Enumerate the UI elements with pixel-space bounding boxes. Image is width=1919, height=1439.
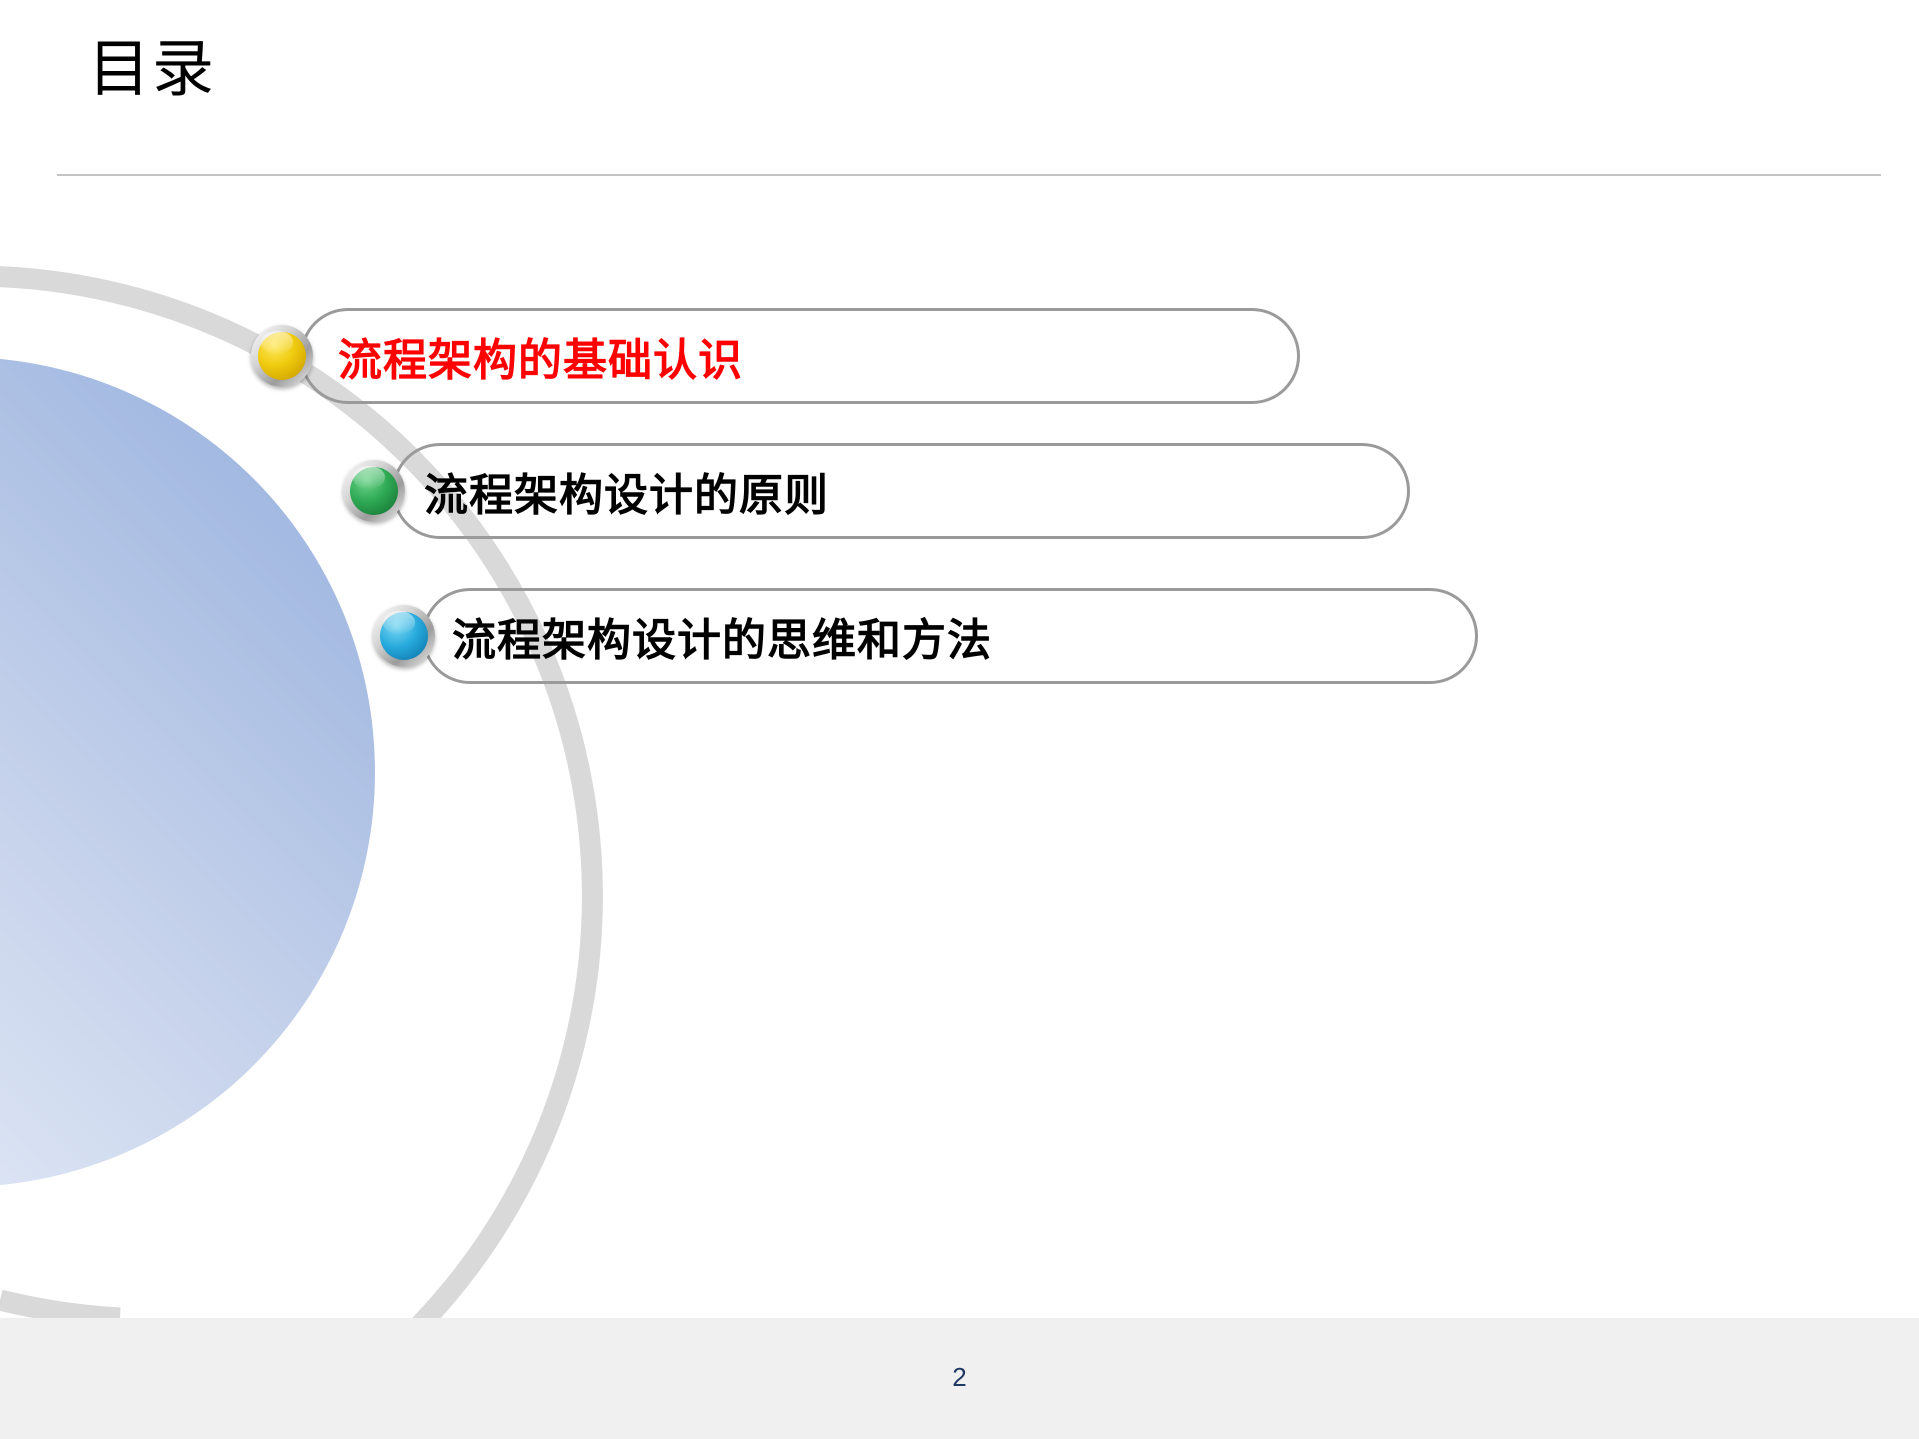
toc-item-2-label: 流程架构设计的原则: [424, 459, 829, 523]
bullet-core: [258, 332, 306, 380]
slide-canvas: 目录 流程架构的基础认识 流程架构设计的原则 流程架构设计的思维和方法 2: [0, 0, 1919, 1439]
background-decoration: [0, 0, 1919, 1439]
page-title: 目录: [88, 34, 216, 105]
toc-item-3-label: 流程架构设计的思维和方法: [452, 604, 992, 668]
decorative-gray-arc-tail: [0, 1300, 120, 1318]
bullet-core: [380, 612, 428, 660]
page-number: 2: [0, 1362, 1919, 1393]
toc-item-2[interactable]: 流程架构设计的原则: [0, 443, 1919, 539]
green-sphere-bullet: [343, 460, 405, 522]
toc-item-1[interactable]: 流程架构的基础认识: [0, 308, 1919, 404]
gold-sphere-bullet: [251, 325, 313, 387]
bullet-core: [350, 467, 398, 515]
toc-item-1-label: 流程架构的基础认识: [338, 324, 743, 388]
blue-sphere-bullet: [373, 605, 435, 667]
header-divider: [57, 174, 1881, 176]
decorative-gray-arc: [0, 276, 592, 1325]
toc-item-3[interactable]: 流程架构设计的思维和方法: [0, 588, 1919, 684]
